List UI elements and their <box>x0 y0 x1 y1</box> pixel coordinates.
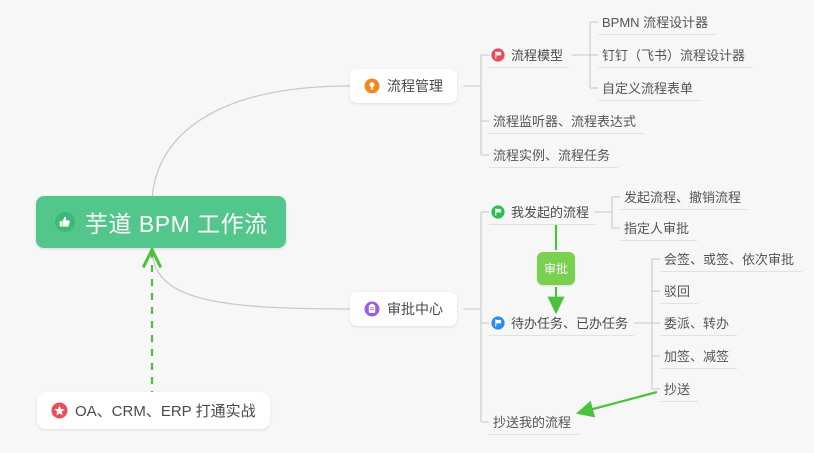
mindmap-canvas: 芋道 BPM 工作流 流程管理 流程模型 BPMN 流程设计器 钉钉（飞书）流程… <box>0 0 814 453</box>
clipboard-icon <box>364 301 380 317</box>
branch-approval-center[interactable]: 审批中心 <box>350 292 457 326</box>
root-node[interactable]: 芋道 BPM 工作流 <box>36 196 286 248</box>
root-label: 芋道 BPM 工作流 <box>85 205 268 239</box>
topic-label: 流程模型 <box>511 45 563 64</box>
leaf-label: 自定义流程表单 <box>602 78 693 97</box>
topic-label: 待办任务、已办任务 <box>511 313 628 332</box>
leaf-listener-expression[interactable]: 流程监听器、流程表达式 <box>489 108 644 134</box>
lightbulb-pin-icon <box>364 78 380 94</box>
leaf-label: 抄送我的流程 <box>493 412 571 431</box>
leaf-label: 发起流程、撤销流程 <box>624 187 741 206</box>
leaf-bpmn-designer[interactable]: BPMN 流程设计器 <box>598 9 716 35</box>
leaf-dingtalk-feishu-designer[interactable]: 钉钉（飞书）流程设计器 <box>598 42 753 68</box>
leaf-label: 驳回 <box>664 281 690 300</box>
leaf-label: BPMN 流程设计器 <box>602 12 708 31</box>
leaf-label: 指定人审批 <box>624 218 689 237</box>
topic-my-initiated-process[interactable]: 我发起的流程 <box>489 199 595 225</box>
leaf-add-remove-sign[interactable]: 加签、减签 <box>660 343 737 369</box>
leaf-cc-my-process[interactable]: 抄送我的流程 <box>489 409 579 435</box>
leaf-reject[interactable]: 驳回 <box>660 278 698 304</box>
thumbs-up-icon <box>54 211 76 233</box>
footnote-card[interactable]: OA、CRM、ERP 打通实战 <box>37 392 270 429</box>
leaf-cc[interactable]: 抄送 <box>660 376 698 402</box>
leaf-label: 钉钉（飞书）流程设计器 <box>602 45 745 64</box>
approval-badge-label: 审批 <box>544 260 568 277</box>
leaf-delegate-transfer[interactable]: 委派、转办 <box>660 310 737 336</box>
flag-icon <box>491 316 505 330</box>
branch-label: 审批中心 <box>387 299 443 319</box>
branch-label: 流程管理 <box>387 76 443 96</box>
approval-badge[interactable]: 审批 <box>537 252 575 285</box>
leaf-instance-task[interactable]: 流程实例、流程任务 <box>489 142 618 168</box>
branch-process-management[interactable]: 流程管理 <box>350 69 457 103</box>
leaf-label: 流程实例、流程任务 <box>493 145 610 164</box>
topic-process-model[interactable]: 流程模型 <box>489 42 569 68</box>
leaf-custom-process-form[interactable]: 自定义流程表单 <box>598 75 701 101</box>
topic-label: 我发起的流程 <box>511 202 589 221</box>
footnote-label: OA、CRM、ERP 打通实战 <box>75 400 256 421</box>
leaf-assignee-approval[interactable]: 指定人审批 <box>620 215 697 241</box>
leaf-label: 会签、或签、依次审批 <box>664 249 794 268</box>
leaf-start-cancel-process[interactable]: 发起流程、撤销流程 <box>620 184 749 210</box>
flag-icon <box>491 205 505 219</box>
leaf-label: 流程监听器、流程表达式 <box>493 111 636 130</box>
leaf-label: 抄送 <box>664 379 690 398</box>
leaf-label: 委派、转办 <box>664 313 729 332</box>
flag-icon <box>491 48 505 62</box>
leaf-label: 加签、减签 <box>664 346 729 365</box>
star-icon <box>51 402 68 419</box>
leaf-countersign-orsign-sequential[interactable]: 会签、或签、依次审批 <box>660 246 802 272</box>
topic-todo-done-tasks[interactable]: 待办任务、已办任务 <box>489 310 634 336</box>
